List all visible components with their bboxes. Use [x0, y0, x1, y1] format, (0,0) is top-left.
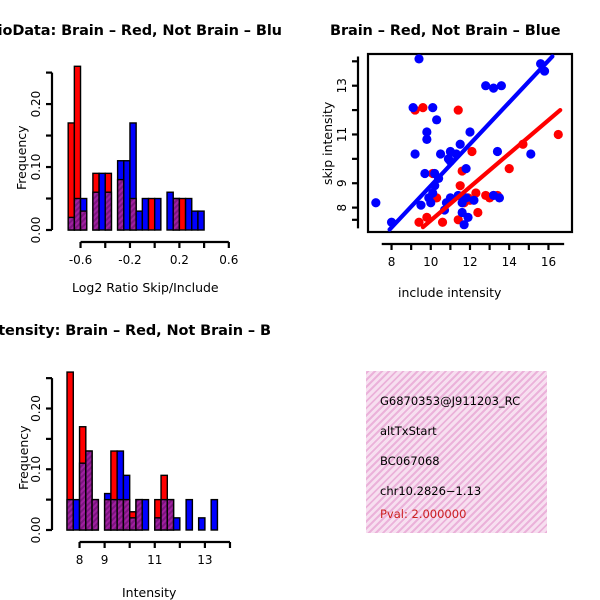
scatter-point	[460, 220, 469, 229]
scatter-point	[495, 193, 504, 202]
scatter-point	[432, 115, 441, 124]
tick-label: -0.6	[69, 253, 92, 267]
tick-label: 13	[197, 553, 212, 567]
tick-label: 0.10	[29, 456, 43, 483]
histogram-bar-overlap	[167, 500, 173, 530]
histogram-bar	[199, 518, 205, 530]
tick-label: 8	[76, 553, 84, 567]
histogram-bar-overlap	[68, 217, 74, 230]
scatter-point	[497, 81, 506, 90]
scatter-xlabel: include intensity	[398, 285, 501, 300]
histogram-bar-overlap	[130, 199, 136, 230]
tick-label: 12	[462, 255, 477, 269]
scatter-point	[554, 130, 563, 139]
histogram-bar-overlap	[173, 199, 179, 230]
histogram-bar-overlap	[136, 500, 142, 530]
tick-label: 0.00	[29, 217, 43, 244]
scatter-point	[469, 196, 478, 205]
histogram-bar	[186, 500, 192, 530]
ratio-histogram-panel: RatioData: Brain – Red, Not Brain – Blu …	[0, 0, 300, 300]
histogram-bar-overlap	[105, 500, 111, 530]
histogram-bar	[149, 199, 155, 230]
scatter-point	[454, 105, 463, 114]
tick-label: 9	[101, 553, 109, 567]
histogram-bar-overlap	[74, 199, 80, 230]
scatter-point	[526, 149, 535, 158]
scatter-point	[418, 103, 427, 112]
regression-line	[423, 110, 560, 227]
histogram-bar-overlap	[117, 500, 123, 530]
histogram-bar	[192, 211, 198, 230]
scatter-point	[493, 147, 502, 156]
histogram-bar-overlap	[67, 500, 73, 530]
gene-info-panel: G6870353@J911203_RC altTxStart BC067068 …	[300, 300, 600, 600]
tick-label: 14	[502, 255, 517, 269]
intensity-histogram-ylabel: Frequency	[16, 425, 31, 490]
tick-label: 9	[335, 179, 349, 187]
histogram-bar	[155, 199, 161, 230]
tick-label: 0.20	[29, 395, 43, 422]
histogram-bar	[174, 518, 180, 530]
tick-label: 0.6	[219, 253, 238, 267]
histogram-bar-overlap	[118, 180, 124, 230]
intensity-histogram-panel: ne Itensity: Brain – Red, Not Brain – B …	[0, 300, 300, 600]
histogram-bar	[198, 211, 204, 230]
tick-label: 0.2	[170, 253, 189, 267]
gene-info-line-probe: G6870353@J911203_RC	[380, 394, 520, 408]
tick-label: 0.20	[29, 91, 43, 118]
ratio-histogram-plot: 0.000.100.20-0.6-0.20.20.6	[0, 42, 300, 302]
scatter-plot: 891113810121416	[300, 42, 600, 302]
histogram-bar-overlap	[80, 463, 86, 530]
tick-label: 8	[335, 204, 349, 212]
intensity-scatter-panel: Brain – Red, Not Brain – Blue 8911138101…	[300, 0, 600, 300]
gene-info-pval: Pval: 2.000000	[380, 507, 466, 521]
scatter-point	[414, 54, 423, 63]
histogram-bar	[211, 500, 217, 530]
histogram-bar-overlap	[105, 192, 111, 230]
scatter-point	[465, 127, 474, 136]
scatter-point	[458, 198, 467, 207]
intensity-histogram-xlabel: Intensity	[122, 585, 176, 600]
histogram-bar	[136, 211, 142, 230]
histogram-bar-overlap	[86, 451, 92, 530]
tick-label: 11	[147, 553, 162, 567]
histogram-bar-overlap	[92, 500, 98, 530]
scatter-point	[426, 198, 435, 207]
scatter-point	[410, 149, 419, 158]
scatter-point	[422, 135, 431, 144]
histogram-bar	[68, 123, 74, 230]
scatter-point	[436, 149, 445, 158]
histogram-bar-overlap	[111, 500, 117, 530]
histogram-bar-overlap	[130, 518, 136, 530]
scatter-title: Brain – Red, Not Brain – Blue	[330, 23, 561, 39]
scatter-point	[409, 103, 418, 112]
histogram-bar-overlap	[123, 500, 129, 530]
scatter-ylabel: skip intensity	[320, 102, 335, 185]
tick-label: 13	[335, 78, 349, 93]
histogram-bar	[99, 173, 105, 230]
histogram-bar	[73, 500, 79, 530]
histogram-bar	[142, 199, 148, 230]
histogram-bar	[142, 500, 148, 530]
scatter-point	[473, 208, 482, 217]
scatter-point	[461, 164, 470, 173]
scatter-point	[456, 181, 465, 190]
gene-info-box: G6870353@J911203_RC altTxStart BC067068 …	[366, 371, 547, 533]
ratio-histogram-ylabel: Frequency	[14, 125, 29, 190]
scatter-point	[428, 103, 437, 112]
histogram-bar	[179, 199, 185, 230]
gene-info-line-accession: BC067068	[380, 454, 440, 468]
gene-info-line-event: altTxStart	[380, 424, 437, 438]
histogram-bar-overlap	[93, 192, 99, 230]
scatter-point	[456, 140, 465, 149]
ratio-histogram-xlabel: Log2 Ratio Skip/Include	[72, 280, 219, 295]
histogram-bar	[186, 199, 192, 230]
scatter-point	[489, 84, 498, 93]
scatter-point	[371, 198, 380, 207]
histogram-bar-overlap	[81, 211, 87, 230]
histogram-bar	[124, 161, 130, 230]
histogram-bar-overlap	[155, 518, 161, 530]
tick-label: -0.2	[118, 253, 141, 267]
intensity-histogram-plot: 0.000.100.20891113	[0, 348, 300, 593]
tick-label: 0.00	[29, 517, 43, 544]
tick-label: 10	[423, 255, 438, 269]
intensity-histogram-title: ne Itensity: Brain – Red, Not Brain – B	[0, 323, 271, 339]
tick-label: 16	[541, 255, 556, 269]
histogram-bar-overlap	[161, 500, 167, 530]
tick-label: 11	[335, 127, 349, 142]
tick-label: 8	[388, 255, 396, 269]
histogram-bar	[167, 192, 173, 230]
ratio-histogram-title: RatioData: Brain – Red, Not Brain – Blu	[0, 23, 282, 39]
scatter-point	[505, 164, 514, 173]
scatter-point	[420, 169, 429, 178]
tick-label: 0.10	[29, 154, 43, 181]
scatter-point	[438, 218, 447, 227]
gene-info-line-locus: chr10.2826−1.13	[380, 484, 481, 498]
scatter-point	[481, 81, 490, 90]
